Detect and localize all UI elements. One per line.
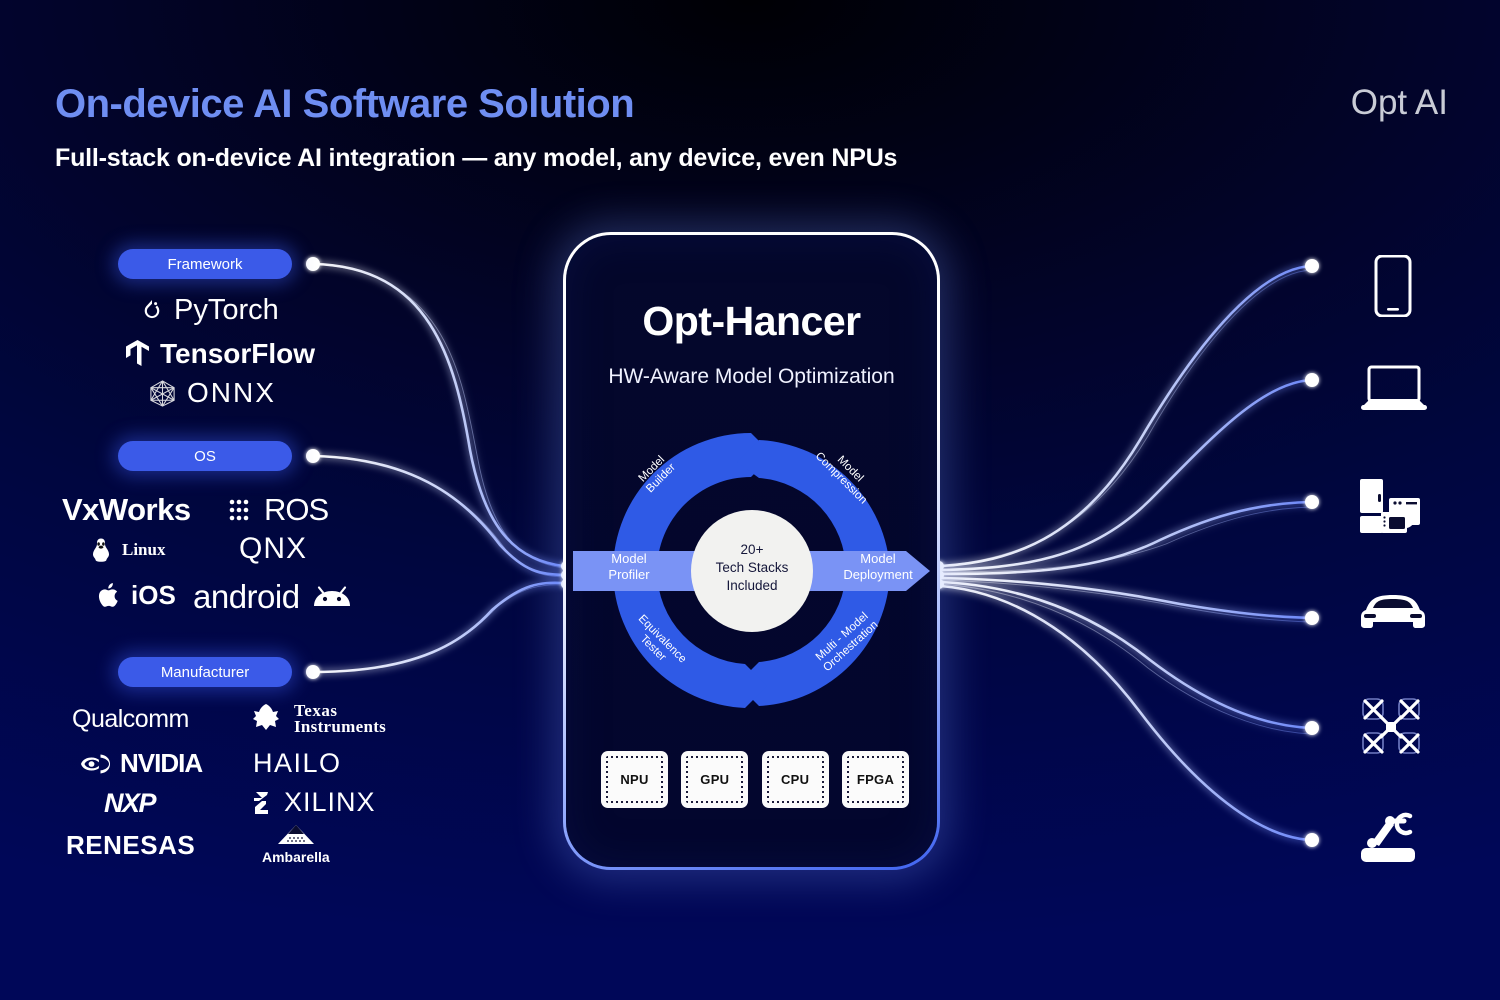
tux-icon bbox=[90, 537, 112, 563]
pytorch-icon bbox=[140, 298, 164, 324]
logo-onnx: ONNX bbox=[148, 377, 276, 409]
device-smartphone bbox=[1372, 255, 1414, 317]
xilinx-icon bbox=[250, 790, 274, 816]
slide-canvas: On-device AI Software Solution Full-stac… bbox=[0, 0, 1500, 1000]
device-drone bbox=[1361, 697, 1421, 755]
onnx-icon bbox=[148, 379, 177, 408]
phone-icon bbox=[1372, 255, 1414, 317]
logo-label: HAILO bbox=[253, 748, 342, 779]
chip-fpga[interactable]: FPGA bbox=[842, 751, 909, 808]
logo-ambarella: Ambarella bbox=[262, 824, 330, 865]
ti-wordmark: Texas Instruments bbox=[294, 703, 386, 735]
logo-label: android bbox=[193, 578, 300, 616]
logo-label-line2: Instruments bbox=[294, 719, 386, 735]
device-home-appliance bbox=[1359, 478, 1421, 534]
logo-label: ONNX bbox=[187, 377, 276, 409]
robot-arm-icon bbox=[1360, 812, 1422, 864]
logo-linux: Linux bbox=[90, 537, 165, 563]
badge-framework[interactable]: Framework bbox=[118, 249, 292, 279]
logo-label: NXP bbox=[104, 788, 155, 819]
logo-tensorflow: TensorFlow bbox=[125, 338, 315, 370]
logo-android: android bbox=[193, 578, 354, 616]
logo-label: RENESAS bbox=[66, 830, 195, 861]
logo-label: PyTorch bbox=[174, 294, 279, 327]
logo-pytorch: PyTorch bbox=[140, 294, 279, 327]
left-ecosystem-panel: Framework OS Manufacturer PyTorch Tensor… bbox=[0, 0, 420, 1000]
device-vehicle bbox=[1360, 592, 1426, 632]
badge-manufacturer[interactable]: Manufacturer bbox=[118, 657, 292, 687]
cycle-stage-model-deployment: Model Deployment bbox=[823, 551, 933, 582]
logo-label: QNX bbox=[239, 532, 307, 566]
logo-nxp: NXP bbox=[104, 788, 155, 819]
tensorflow-icon bbox=[125, 340, 150, 368]
device-robot-arm bbox=[1360, 812, 1422, 864]
logo-label: VxWorks bbox=[62, 492, 191, 528]
chip-label: CPU bbox=[781, 772, 809, 787]
chip-npu[interactable]: NPU bbox=[601, 751, 668, 808]
logo-ios: iOS bbox=[96, 580, 176, 611]
chip-label: NPU bbox=[620, 772, 648, 787]
chip-label: FPGA bbox=[857, 772, 894, 787]
laptop-icon bbox=[1361, 365, 1427, 413]
card-subtitle: HW-Aware Model Optimization bbox=[566, 365, 937, 389]
nvidia-eye-icon bbox=[80, 753, 110, 775]
car-icon bbox=[1360, 592, 1426, 632]
texas-instruments-icon bbox=[250, 703, 284, 735]
chip-gpu[interactable]: GPU bbox=[681, 751, 748, 808]
logo-qualcomm: Qualcomm bbox=[72, 705, 189, 734]
logo-hailo: HAILO bbox=[253, 748, 342, 779]
logo-ros: ROS bbox=[228, 492, 328, 528]
logo-label: Qualcomm bbox=[72, 705, 189, 734]
logo-renesas: RENESAS bbox=[66, 830, 195, 861]
logo-qnx: QNX bbox=[239, 532, 307, 566]
drone-icon bbox=[1361, 697, 1421, 755]
logo-label: NVIDIA bbox=[120, 748, 202, 779]
logo-texas-instruments: Texas Instruments bbox=[250, 703, 386, 735]
processor-chip-row: NPU GPU CPU FPGA bbox=[601, 751, 909, 808]
logo-vxworks: VxWorks bbox=[62, 492, 191, 528]
logo-label: Linux bbox=[122, 540, 165, 560]
ambarella-icon bbox=[270, 824, 322, 848]
appliance-icon bbox=[1359, 478, 1421, 534]
card-title: Opt-Hancer bbox=[566, 298, 937, 345]
chip-label: GPU bbox=[700, 772, 729, 787]
optimization-cycle-diagram: Model Builder Model Compression Multi - … bbox=[573, 423, 930, 718]
logo-xilinx: XILINX bbox=[250, 787, 376, 818]
cycle-stage-model-profiler: Model Profiler bbox=[575, 551, 683, 582]
device-laptop bbox=[1361, 365, 1427, 413]
ros-icon bbox=[228, 497, 254, 523]
logo-label: TensorFlow bbox=[160, 338, 315, 370]
android-icon bbox=[310, 584, 354, 610]
logo-label: XILINX bbox=[284, 787, 376, 818]
logo-label: Ambarella bbox=[262, 849, 330, 865]
chip-cpu[interactable]: CPU bbox=[762, 751, 829, 808]
logo-label: ROS bbox=[264, 492, 328, 528]
logo-label: iOS bbox=[131, 580, 176, 611]
cycle-center-label: 20+ Tech Stacks Included bbox=[692, 541, 812, 596]
badge-os[interactable]: OS bbox=[118, 441, 292, 471]
logo-nvidia: NVIDIA bbox=[80, 748, 202, 779]
apple-icon bbox=[96, 581, 121, 610]
